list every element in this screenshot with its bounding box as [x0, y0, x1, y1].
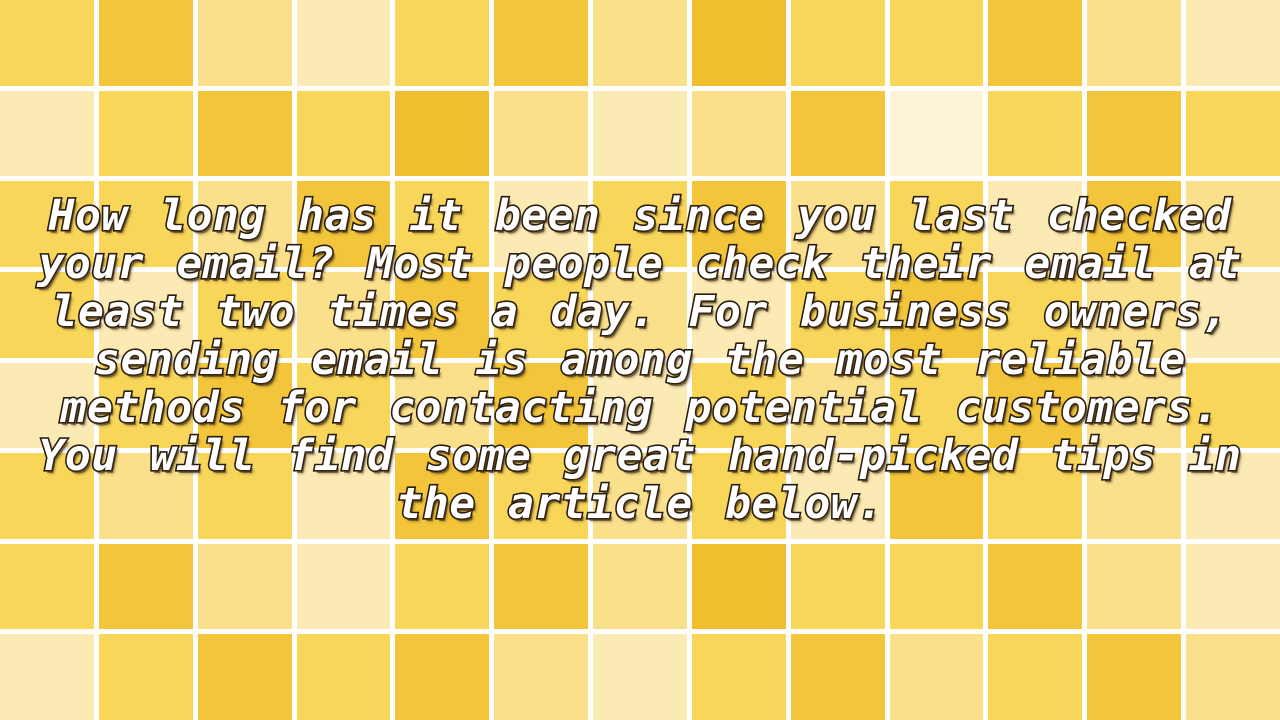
mosaic-tile — [395, 272, 489, 358]
mosaic-tile — [0, 634, 94, 720]
quote-card-canvas: How long has it been since you last chec… — [0, 0, 1280, 720]
mosaic-tile — [0, 272, 94, 358]
mosaic-tile — [0, 0, 94, 86]
mosaic-tile — [791, 0, 885, 86]
mosaic-tile — [593, 544, 687, 630]
mosaic-tile — [1186, 453, 1280, 539]
mosaic-tile — [593, 453, 687, 539]
mosaic-tile — [1087, 91, 1181, 177]
mosaic-tile — [0, 544, 94, 630]
mosaic-tile — [99, 181, 193, 267]
mosaic-tile — [395, 363, 489, 449]
mosaic-tile — [198, 634, 292, 720]
mosaic-tile — [297, 363, 391, 449]
mosaic-tile — [198, 544, 292, 630]
mosaic-tile — [593, 181, 687, 267]
mosaic-tile — [494, 0, 588, 86]
mosaic-tile — [99, 91, 193, 177]
mosaic-tile — [1087, 634, 1181, 720]
mosaic-tile — [395, 544, 489, 630]
mosaic-tile — [791, 181, 885, 267]
mosaic-tile — [988, 634, 1082, 720]
mosaic-tile — [198, 91, 292, 177]
mosaic-tile — [494, 453, 588, 539]
mosaic-tile — [791, 634, 885, 720]
mosaic-tile — [0, 363, 94, 449]
mosaic-tile — [1186, 181, 1280, 267]
mosaic-tile — [99, 634, 193, 720]
mosaic-tile — [494, 634, 588, 720]
mosaic-tile — [988, 453, 1082, 539]
mosaic-tile — [494, 363, 588, 449]
mosaic-tile — [593, 363, 687, 449]
mosaic-tile — [297, 544, 391, 630]
mosaic-tile — [890, 453, 984, 539]
mosaic-tile — [1186, 544, 1280, 630]
mosaic-tile — [99, 453, 193, 539]
mosaic-tile — [791, 453, 885, 539]
mosaic-tile — [890, 181, 984, 267]
mosaic-tile — [0, 181, 94, 267]
mosaic-tile — [198, 363, 292, 449]
mosaic-tile — [99, 0, 193, 86]
mosaic-tile — [791, 544, 885, 630]
mosaic-tile — [791, 272, 885, 358]
mosaic-tile — [395, 91, 489, 177]
mosaic-tile — [99, 272, 193, 358]
mosaic-tile — [395, 0, 489, 86]
mosaic-tile — [1087, 453, 1181, 539]
mosaic-tile — [988, 181, 1082, 267]
mosaic-tile — [988, 91, 1082, 177]
mosaic-tile — [692, 453, 786, 539]
mosaic-tile — [692, 181, 786, 267]
mosaic-tile — [988, 0, 1082, 86]
mosaic-tile — [1186, 91, 1280, 177]
mosaic-tile — [1186, 634, 1280, 720]
mosaic-tile — [297, 0, 391, 86]
mosaic-tile — [692, 272, 786, 358]
mosaic-tile — [988, 544, 1082, 630]
mosaic-tile — [198, 0, 292, 86]
mosaic-tile — [692, 544, 786, 630]
mosaic-tile — [890, 544, 984, 630]
mosaic-tile — [494, 181, 588, 267]
mosaic-tile — [395, 634, 489, 720]
mosaic-tile — [890, 634, 984, 720]
mosaic-tile — [297, 91, 391, 177]
mosaic-tile — [1087, 0, 1181, 86]
mosaic-tile — [890, 363, 984, 449]
mosaic-tile — [494, 91, 588, 177]
mosaic-tile — [890, 0, 984, 86]
mosaic-tile — [791, 363, 885, 449]
mosaic-tile — [1087, 363, 1181, 449]
mosaic-tile — [297, 634, 391, 720]
mosaic-tile — [791, 91, 885, 177]
mosaic-tile — [988, 363, 1082, 449]
mosaic-tile — [1087, 272, 1181, 358]
mosaic-tile — [1186, 0, 1280, 86]
mosaic-tile — [0, 453, 94, 539]
mosaic-tile — [692, 363, 786, 449]
mosaic-tile — [297, 181, 391, 267]
mosaic-tile — [1087, 544, 1181, 630]
mosaic-background — [0, 0, 1280, 720]
mosaic-tile — [297, 272, 391, 358]
mosaic-tile — [198, 181, 292, 267]
mosaic-tile — [988, 272, 1082, 358]
mosaic-tile — [593, 0, 687, 86]
mosaic-tile — [692, 634, 786, 720]
mosaic-tile — [494, 544, 588, 630]
mosaic-tile — [395, 181, 489, 267]
mosaic-tile — [297, 453, 391, 539]
mosaic-tile — [1087, 181, 1181, 267]
mosaic-tile — [890, 91, 984, 177]
mosaic-tile — [1186, 272, 1280, 358]
mosaic-tile — [593, 272, 687, 358]
mosaic-tile — [593, 91, 687, 177]
mosaic-tile — [395, 453, 489, 539]
mosaic-tile — [494, 272, 588, 358]
mosaic-tile — [692, 0, 786, 86]
mosaic-tile — [198, 453, 292, 539]
mosaic-tile — [890, 272, 984, 358]
mosaic-tile — [99, 363, 193, 449]
mosaic-tile — [99, 544, 193, 630]
mosaic-tile — [692, 91, 786, 177]
mosaic-tile — [593, 634, 687, 720]
mosaic-tile — [0, 91, 94, 177]
mosaic-tile — [198, 272, 292, 358]
mosaic-tile — [1186, 363, 1280, 449]
